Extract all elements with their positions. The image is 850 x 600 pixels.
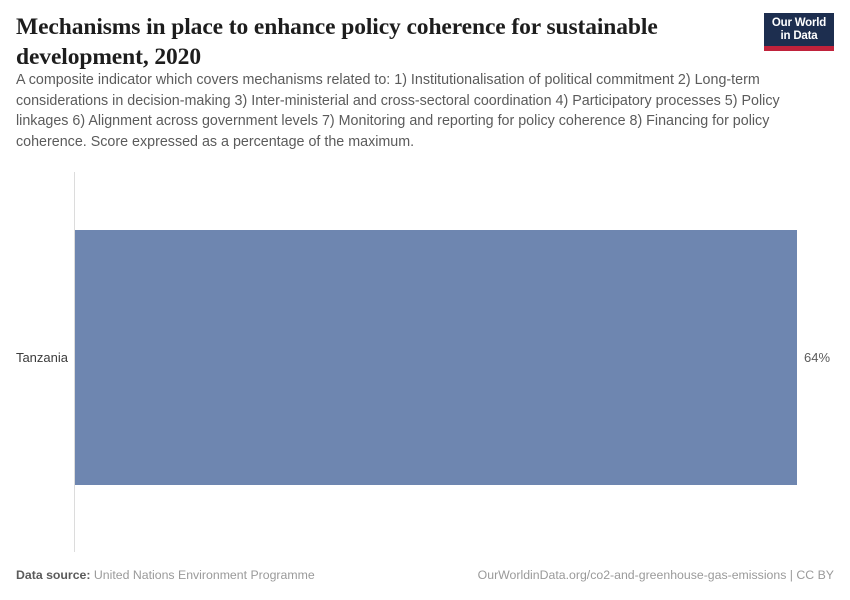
data-source-value: United Nations Environment Programme: [94, 568, 315, 582]
logo-line-1: Our World: [766, 17, 832, 30]
owid-chart: Mechanisms in place to enhance policy co…: [0, 0, 850, 600]
bar-value-label: 64%: [804, 230, 830, 485]
data-source-label: Data source:: [16, 568, 91, 582]
chart-header: Mechanisms in place to enhance policy co…: [16, 12, 834, 72]
y-axis-line: [74, 172, 75, 552]
attribution-link[interactable]: OurWorldinData.org/co2-and-greenhouse-ga…: [478, 568, 834, 582]
page-title: Mechanisms in place to enhance policy co…: [16, 12, 676, 72]
bar-row-tanzania: Tanzania 64%: [0, 230, 850, 485]
bar-category-label: Tanzania: [0, 230, 68, 485]
data-source: Data source: United Nations Environment …: [16, 568, 315, 582]
bar-tanzania[interactable]: [75, 230, 797, 485]
chart-subtitle: A composite indicator which covers mecha…: [16, 70, 816, 152]
logo-line-2: in Data: [766, 30, 832, 43]
chart-footer: Data source: United Nations Environment …: [16, 568, 834, 586]
our-world-in-data-logo[interactable]: Our World in Data: [764, 13, 834, 51]
